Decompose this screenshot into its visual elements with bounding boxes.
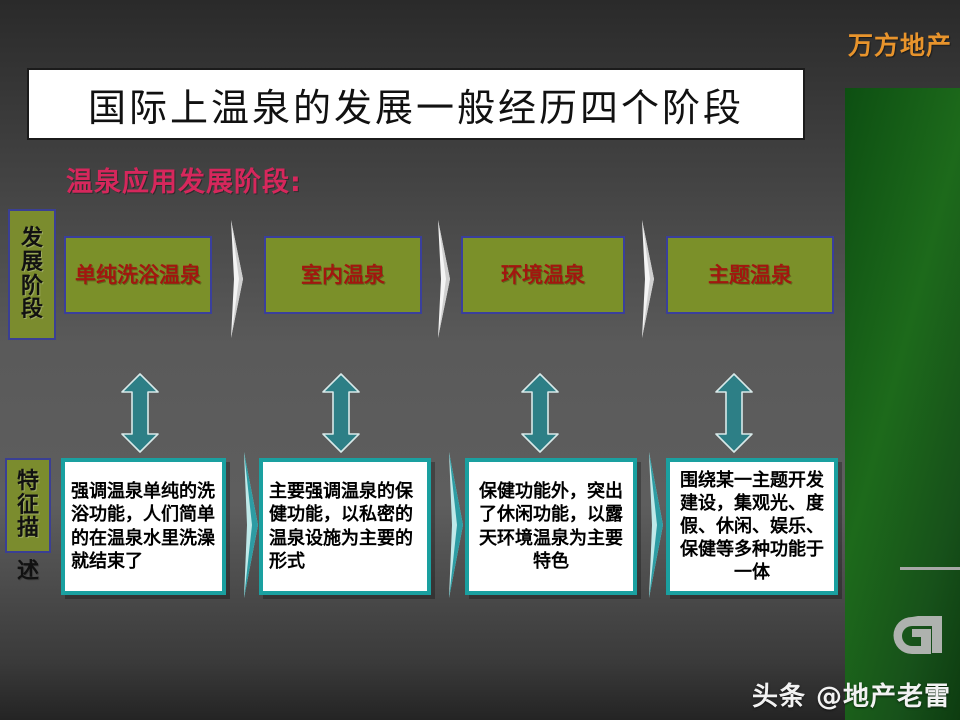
stage-box-label: 室内温泉 xyxy=(301,262,385,288)
stage-box[interactable]: 环境温泉 xyxy=(461,236,625,314)
stage-box[interactable]: 单纯洗浴温泉 xyxy=(64,236,212,314)
stage-axis-label-char: 阶 xyxy=(21,275,43,299)
feature-axis-label-char: 述 xyxy=(5,553,51,585)
watermark: 头条 @地产老雷 xyxy=(752,676,951,713)
stage-box[interactable]: 室内温泉 xyxy=(264,236,422,314)
stage-axis-label-char: 发 xyxy=(21,227,43,251)
description-box[interactable]: 围绕某一主题开发建设，集观光、度假、休闲、娱乐、保健等多种功能于一体 xyxy=(666,458,838,595)
chevron-separator-icon xyxy=(221,220,255,338)
double-headed-arrow-icon xyxy=(713,372,755,454)
panel-divider-line xyxy=(900,567,960,570)
double-headed-arrow-icon xyxy=(320,372,362,454)
description-text: 主要强调温泉的保健功能，以私密的温泉设施为主要的形式 xyxy=(269,480,421,572)
stage-axis-label: 发 展 阶 段 xyxy=(8,209,56,340)
description-box[interactable]: 主要强调温泉的保健功能，以私密的温泉设施为主要的形式 xyxy=(259,458,431,595)
feature-axis-label-char: 描 xyxy=(17,517,39,541)
stage-box-label: 单纯洗浴温泉 xyxy=(75,262,201,288)
feature-axis-label: 特 征 描 xyxy=(5,458,51,553)
description-box[interactable]: 保健功能外，突出了休闲功能，以露天环境温泉为主要特色 xyxy=(465,458,637,595)
page-title: 国际上温泉的发展一般经历四个阶段 xyxy=(88,77,744,132)
slide-canvas: 万方地产 国际上温泉的发展一般经历四个阶段 温泉应用发展阶段: 发 展 阶 段 … xyxy=(0,0,960,720)
chevron-separator-icon xyxy=(632,220,666,338)
stage-box-label: 主题温泉 xyxy=(708,262,792,288)
double-headed-arrow-icon xyxy=(119,372,161,454)
stage-axis-label-char: 段 xyxy=(21,298,43,322)
description-text: 强调温泉单纯的洗浴功能，人们简单的在温泉水里洗澡就结束了 xyxy=(71,480,216,572)
title-box: 国际上温泉的发展一般经历四个阶段 xyxy=(27,68,805,140)
stage-axis-label-char: 展 xyxy=(21,251,43,275)
company-logo-icon xyxy=(884,612,946,657)
stage-box[interactable]: 主题温泉 xyxy=(666,236,834,314)
stage-box-label: 环境温泉 xyxy=(501,262,585,288)
feature-axis-label-char: 征 xyxy=(17,494,39,518)
description-text: 围绕某一主题开发建设，集观光、度假、休闲、娱乐、保健等多种功能于一体 xyxy=(676,469,828,584)
feature-axis-label-char: 特 xyxy=(17,470,39,494)
description-box[interactable]: 强调温泉单纯的洗浴功能，人们简单的在温泉水里洗澡就结束了 xyxy=(61,458,226,595)
subtitle: 温泉应用发展阶段: xyxy=(66,160,302,199)
description-text: 保健功能外，突出了休闲功能，以露天环境温泉为主要特色 xyxy=(475,480,627,572)
chevron-separator-icon xyxy=(428,220,462,338)
company-name: 万方地产 xyxy=(848,26,952,62)
double-headed-arrow-icon xyxy=(519,372,561,454)
